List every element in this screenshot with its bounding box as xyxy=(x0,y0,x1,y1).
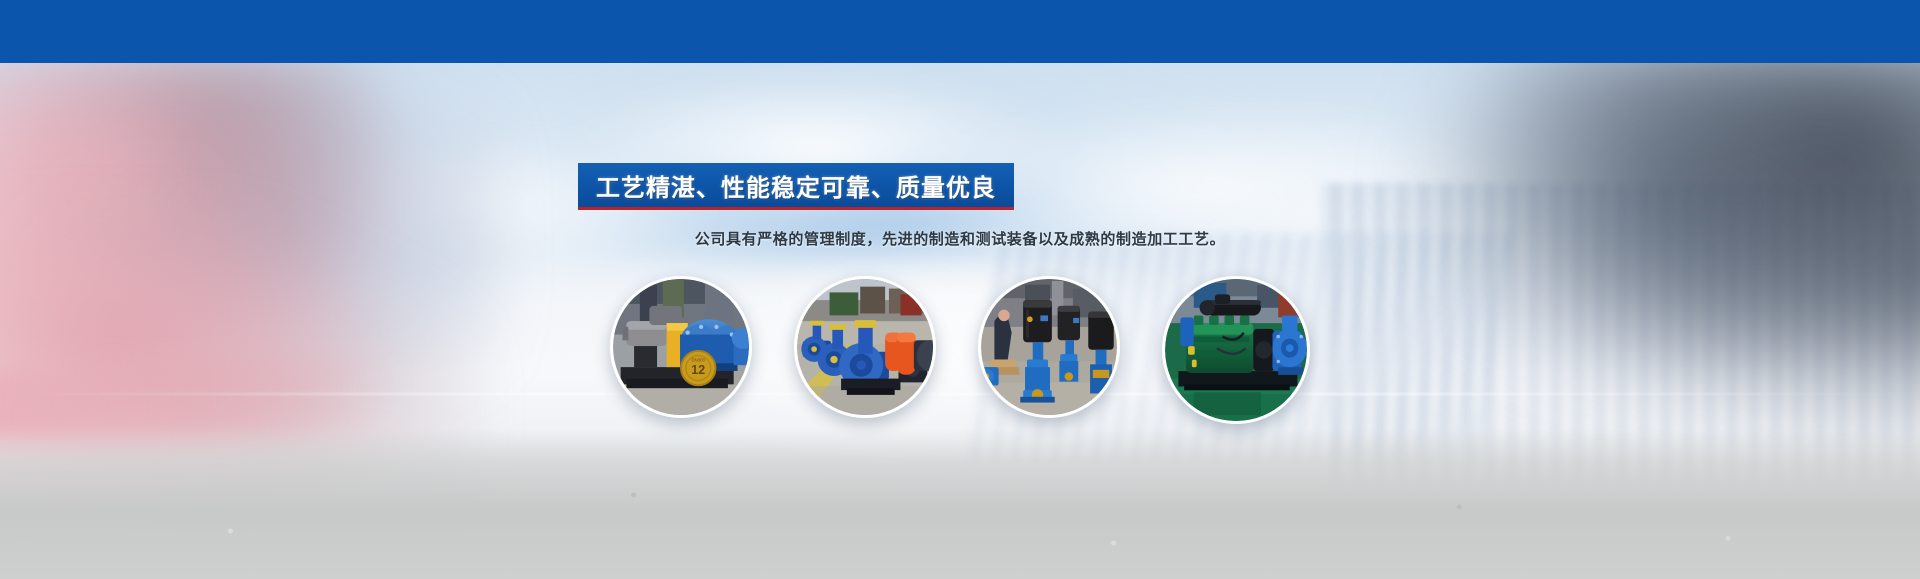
diesel-engine-pump-photo xyxy=(1165,279,1307,421)
vertical-inline-pump-photo xyxy=(981,279,1117,415)
subtitle-text: 公司具有严格的管理制度，先进的制造和测试装备以及成熟的制造加工工艺。 xyxy=(0,228,1920,249)
headline-plate: 工艺精湛、性能稳定可靠、质量优良 xyxy=(578,163,1014,210)
svg-text:12: 12 xyxy=(691,363,705,377)
slurry-pump-row-photo xyxy=(797,279,933,415)
gallery-item-vertical-inline-pump[interactable] xyxy=(978,276,1120,418)
banner-stage: 工艺精湛、性能稳定可靠、质量优良 公司具有严格的管理制度，先进的制造和测试装备以… xyxy=(0,0,1920,579)
headline-text: 工艺精湛、性能稳定可靠、质量优良 xyxy=(596,168,996,203)
top-blue-bar xyxy=(0,0,1920,63)
gallery-item-slurry-pump-row[interactable] xyxy=(794,276,936,418)
gallery-item-split-case-pump[interactable]: 12 DN300 xyxy=(610,276,752,418)
svg-text:DN300: DN300 xyxy=(692,357,706,362)
split-case-pump-photo: 12 DN300 xyxy=(613,279,749,415)
gallery-item-diesel-engine-pump[interactable] xyxy=(1162,276,1310,424)
ground-texture xyxy=(0,459,1920,579)
photo-gallery: 12 DN300 xyxy=(0,276,1920,446)
